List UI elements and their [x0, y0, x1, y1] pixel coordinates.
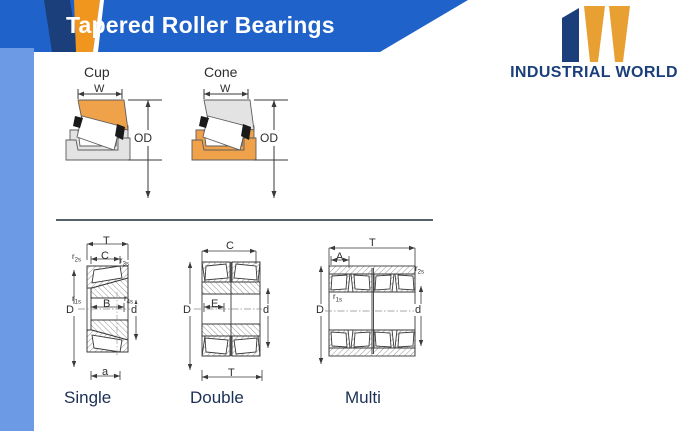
double-dim-C: C: [226, 240, 234, 252]
figure-double-row-bearing: C E D d T: [180, 230, 290, 385]
figure-cone-drawing: [182, 64, 312, 204]
logo-w-stroke-left-icon: [584, 6, 605, 62]
single-fillet-r1s: r1s: [72, 294, 81, 306]
single-dim-d: d: [130, 304, 138, 316]
single-fillet-r3s: r3s: [120, 256, 129, 268]
double-dim-T: T: [228, 367, 235, 379]
left-accent-bar: [0, 48, 34, 431]
logo-wordmark: INDUSTRIAL WORLD: [492, 64, 696, 82]
single-dim-B: B: [103, 298, 110, 310]
figure-cone-caption: Cone: [204, 64, 237, 80]
figure-double-drawing: [180, 230, 290, 385]
single-fillet-r2s: r2s: [72, 252, 81, 264]
logo-mark-icon: [492, 4, 696, 62]
single-dim-a: a: [102, 366, 108, 378]
figure-cup-drawing: [56, 64, 186, 204]
double-dim-d: d: [262, 304, 270, 316]
single-dim-C: C: [101, 250, 109, 262]
single-dim-D: D: [65, 304, 75, 316]
double-dim-D: D: [182, 304, 192, 316]
section-divider: [56, 219, 433, 221]
caption-double: Double: [190, 388, 244, 408]
logo-w-stroke-right-icon: [609, 6, 630, 62]
figure-cone-od-label: OD: [258, 130, 280, 146]
logo-letter-w-icon: [584, 6, 644, 62]
figure-cup: Cup W: [56, 64, 186, 204]
multi-dim-D: D: [315, 304, 325, 316]
figure-cone-width-label: W: [220, 83, 230, 95]
company-logo: INDUSTRIAL WORLD: [492, 4, 696, 88]
multi-fillet-r1s: r1s: [333, 292, 342, 304]
double-dim-E: E: [211, 298, 218, 310]
figure-cup-width-label: W: [94, 83, 104, 95]
multi-fillet-r2s: r2s: [415, 264, 424, 276]
figure-cup-od-label: OD: [132, 130, 154, 146]
figure-cup-caption: Cup: [84, 64, 110, 80]
multi-dim-T: T: [369, 237, 376, 249]
figure-single-row-bearing: T C B D d a r2s r3s r1s r4s: [58, 230, 176, 385]
figure-cone: Cone W: [182, 64, 312, 204]
logo-letter-i-icon: [562, 8, 579, 62]
slide-canvas: Tapered Roller Bearings INDUSTRIAL WORLD…: [0, 0, 700, 431]
multi-dim-d: d: [414, 304, 422, 316]
caption-multi: Multi: [345, 388, 381, 408]
caption-single: Single: [64, 388, 111, 408]
multi-dim-A: A: [336, 251, 343, 263]
figure-multi-row-bearing: T A D d r2s r1s: [315, 230, 435, 385]
single-fillet-r4s: r4s: [124, 294, 133, 306]
page-title: Tapered Roller Bearings: [66, 12, 335, 39]
single-dim-T: T: [103, 235, 110, 247]
